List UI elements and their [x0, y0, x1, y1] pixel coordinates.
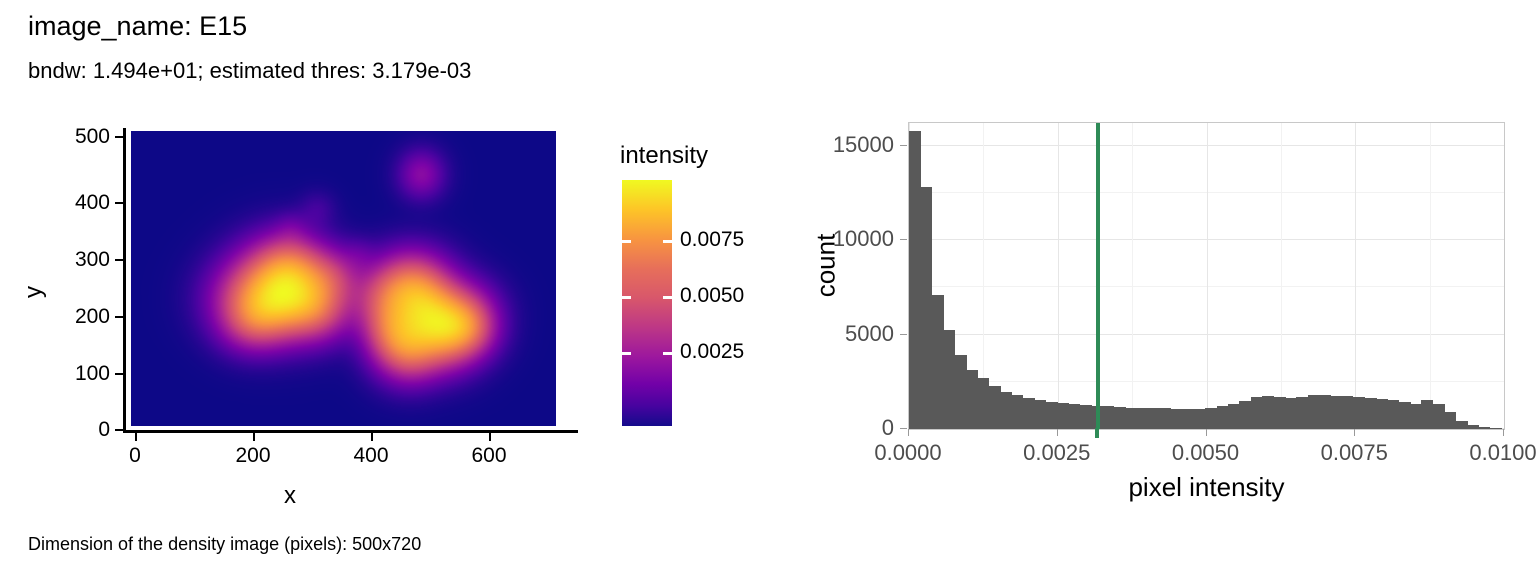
- histogram-y-tick-label: 15000: [788, 132, 894, 158]
- grid-line-minor: [1132, 123, 1133, 429]
- histogram-bar: [966, 370, 978, 430]
- histogram-bar: [1342, 396, 1354, 429]
- density-x-tick: [135, 433, 137, 441]
- density-y-tick-label: 200: [55, 305, 110, 329]
- histogram-bar: [1274, 397, 1286, 429]
- colorbar-tick: [663, 296, 672, 299]
- colorbar-gradient: [622, 180, 672, 426]
- histogram-bar: [1467, 425, 1479, 429]
- histogram-bar: [920, 187, 932, 429]
- histogram-bar: [1000, 392, 1012, 429]
- histogram-bar: [1433, 404, 1445, 429]
- histogram-bar: [1137, 408, 1149, 429]
- colorbar-tick-label: 0.0025: [680, 340, 744, 364]
- density-x-tick-label: 600: [459, 444, 519, 468]
- histogram-y-tick-label: 10000: [788, 226, 894, 252]
- density-y-tick: [115, 259, 123, 261]
- histogram-y-tick: [900, 145, 907, 146]
- grid-line-minor: [1281, 123, 1282, 429]
- histogram-bar: [909, 131, 921, 429]
- histogram-bar: [1296, 397, 1308, 429]
- histogram-bar: [1035, 400, 1047, 429]
- histogram-bar: [1217, 406, 1229, 429]
- histogram-bar: [1182, 409, 1194, 429]
- density-y-tick-label: 0: [55, 418, 110, 442]
- histogram-y-tick-label: 0: [788, 415, 894, 441]
- figure-caption: Dimension of the density image (pixels):…: [28, 533, 421, 555]
- histogram-x-tick: [908, 429, 909, 436]
- histogram-x-axis-title: pixel intensity: [908, 472, 1505, 503]
- histogram-bar: [1399, 402, 1411, 429]
- histogram-bar: [989, 386, 1001, 429]
- density-x-axis-line: [123, 430, 578, 433]
- histogram-bar: [1251, 397, 1263, 429]
- histogram-panel: count pixel intensity 0500010000150000.0…: [790, 110, 1536, 520]
- density-y-tick-label: 300: [55, 248, 110, 272]
- histogram-y-tick-label: 5000: [788, 321, 894, 347]
- density-heatmap-canvas: [131, 131, 556, 426]
- threshold-vline: [1096, 123, 1100, 429]
- grid-line-major: [1504, 123, 1505, 429]
- histogram-bar: [1046, 402, 1058, 429]
- histogram-bar: [1080, 405, 1092, 429]
- histogram-bar: [1171, 409, 1183, 429]
- histogram-bar: [1114, 407, 1126, 429]
- histogram-x-tick-label: 0.0000: [848, 440, 968, 466]
- grid-line-major: [1207, 123, 1208, 429]
- histogram-bar: [1102, 406, 1114, 429]
- histogram-bar: [1057, 403, 1069, 429]
- histogram-y-tick: [900, 428, 907, 429]
- density-x-tick-label: 0: [105, 444, 165, 468]
- grid-line-minor: [1430, 123, 1431, 429]
- histogram-bar: [1262, 396, 1274, 429]
- density-y-tick: [115, 136, 123, 138]
- density-y-tick: [115, 373, 123, 375]
- histogram-x-tick: [1057, 429, 1058, 436]
- histogram-bar: [1478, 427, 1490, 429]
- histogram-x-tick-label: 0.0100: [1443, 440, 1536, 466]
- colorbar-tick: [663, 240, 672, 243]
- colorbar-tick: [622, 296, 631, 299]
- histogram-bar: [1194, 409, 1206, 429]
- histogram-bar: [977, 378, 989, 429]
- histogram-bar: [1319, 395, 1331, 429]
- histogram-bar: [1365, 398, 1377, 429]
- colorbar-tick: [622, 240, 631, 243]
- density-y-tick: [115, 316, 123, 318]
- histogram-bar: [1023, 398, 1035, 429]
- histogram-bar: [932, 295, 944, 429]
- page-subtitle: bndw: 1.494e+01; estimated thres: 3.179e…: [28, 58, 471, 84]
- intensity-colorbar-legend: intensity 0.0075 0.0050 0.0025: [616, 130, 786, 430]
- histogram-bar: [955, 355, 967, 429]
- histogram-x-tick: [1206, 429, 1207, 436]
- density-x-tick-label: 400: [341, 444, 401, 468]
- histogram-bar: [1159, 408, 1171, 429]
- histogram-bar: [1330, 396, 1342, 429]
- histogram-bar: [1308, 395, 1320, 429]
- histogram-bar: [1205, 408, 1217, 429]
- histogram-x-tick-label: 0.0025: [997, 440, 1117, 466]
- colorbar-tick-label: 0.0075: [680, 228, 744, 252]
- histogram-y-tick: [900, 239, 907, 240]
- histogram-bar: [1148, 408, 1160, 429]
- histogram-bar: [1126, 408, 1138, 429]
- histogram-bar: [1421, 400, 1433, 429]
- density-x-tick: [489, 433, 491, 441]
- density-y-tick-label: 400: [55, 191, 110, 215]
- density-y-axis-title: y: [20, 286, 48, 298]
- histogram-bar: [1456, 421, 1468, 429]
- histogram-bar: [1410, 404, 1422, 429]
- density-x-axis-title: x: [0, 482, 580, 510]
- density-heatmap-image: [131, 131, 556, 426]
- histogram-bar: [1387, 400, 1399, 429]
- threshold-line-stub: [1095, 428, 1099, 438]
- density-x-tick: [371, 433, 373, 441]
- histogram-bar: [1011, 395, 1023, 429]
- colorbar-tick: [663, 352, 672, 355]
- histogram-x-tick-label: 0.0050: [1146, 440, 1266, 466]
- histogram-bar: [1285, 398, 1297, 429]
- histogram-y-tick: [900, 334, 907, 335]
- page-title: image_name: E15: [28, 10, 247, 42]
- grid-line-major: [1058, 123, 1059, 429]
- colorbar-tick-label: 0.0050: [680, 284, 744, 308]
- histogram-bar: [1353, 397, 1365, 429]
- density-y-axis-line: [123, 128, 126, 430]
- density-y-tick: [115, 202, 123, 204]
- histogram-bar: [1376, 399, 1388, 429]
- density-y-tick-label: 500: [55, 125, 110, 149]
- density-x-tick-label: 200: [223, 444, 283, 468]
- legend-title: intensity: [620, 142, 708, 170]
- colorbar-tick: [622, 352, 631, 355]
- histogram-plot-area: [908, 122, 1505, 430]
- histogram-x-tick: [1503, 429, 1504, 436]
- density-y-tick: [115, 429, 123, 431]
- density-y-tick-label: 100: [55, 362, 110, 386]
- histogram-bar: [943, 330, 955, 429]
- histogram-bar: [1445, 412, 1457, 429]
- grid-line-major: [1355, 123, 1356, 429]
- histogram-bar: [1228, 404, 1240, 430]
- histogram-bar: [1068, 404, 1080, 429]
- histogram-bar: [1490, 428, 1502, 429]
- histogram-x-tick: [1354, 429, 1355, 436]
- histogram-x-tick-label: 0.0075: [1294, 440, 1414, 466]
- histogram-bar: [1239, 401, 1251, 429]
- density-x-tick: [253, 433, 255, 441]
